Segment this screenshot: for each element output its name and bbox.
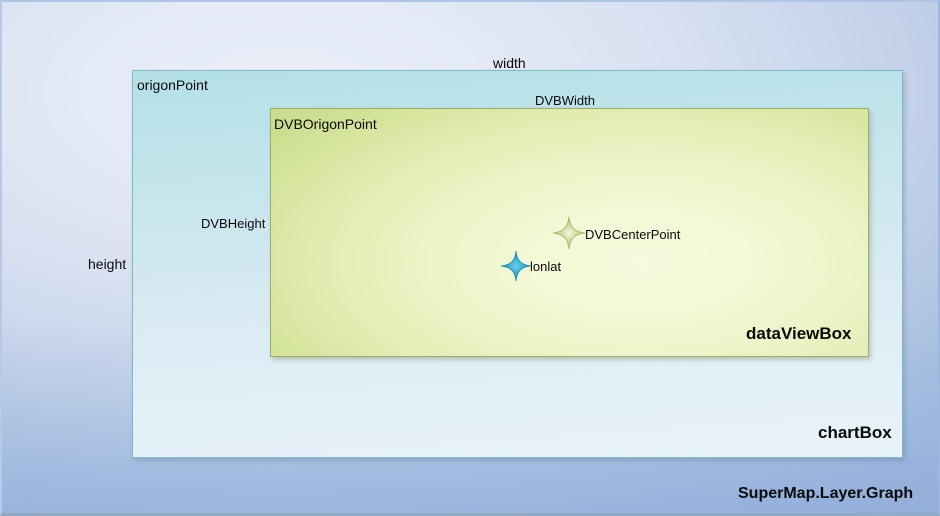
label-origon-point: origonPoint	[137, 78, 208, 92]
label-dvb-center-point: DVBCenterPoint	[585, 228, 680, 241]
caption-data-view-box: dataViewBox	[746, 325, 852, 342]
label-width: width	[493, 56, 526, 70]
caption-chart-box: chartBox	[818, 424, 892, 441]
diagram-canvas: width height origonPoint DVBWidth DVBHei…	[0, 0, 940, 516]
label-dvb-height: DVBHeight	[201, 217, 265, 230]
lonlat-star-icon[interactable]	[499, 249, 533, 283]
label-lonlat: lonlat	[530, 260, 561, 273]
label-height: height	[88, 257, 126, 271]
label-dvb-origon-point: DVBOrigonPoint	[274, 117, 377, 131]
diagram-title: SuperMap.Layer.Graph	[738, 486, 913, 502]
dvb-center-point-star-icon[interactable]	[552, 216, 586, 250]
label-dvb-width: DVBWidth	[535, 94, 595, 107]
